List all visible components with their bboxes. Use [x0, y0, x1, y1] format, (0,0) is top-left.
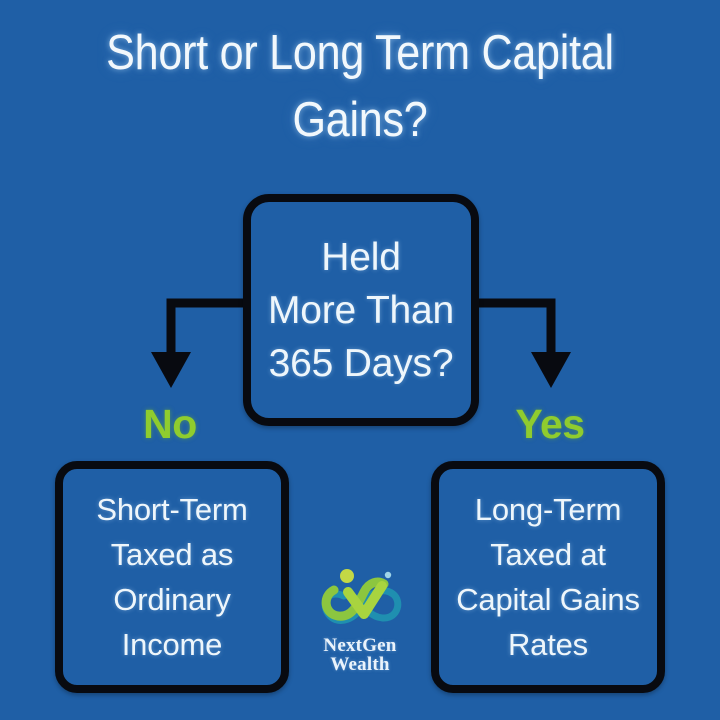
outcome-box-short-term-label: Short-Term Taxed as Ordinary Income — [96, 487, 247, 667]
decision-box-label: Held More Than 365 Days? — [268, 231, 454, 390]
connector-yes-arrow — [475, 303, 571, 388]
outcome-box-short-term: Short-Term Taxed as Ordinary Income — [55, 461, 289, 693]
brand-logo: NextGen Wealth — [298, 562, 422, 684]
capital-gains-infographic: Short or Long Term Capital Gains? Held M… — [0, 0, 720, 720]
branch-label-no: No — [100, 402, 240, 446]
page-title: Short or Long Term Capital Gains? — [43, 20, 677, 154]
connector-no-arrow — [151, 303, 247, 388]
logo-word-primary: NextGen — [298, 636, 422, 655]
branch-label-yes: Yes — [480, 402, 620, 446]
logo-word-secondary: Wealth — [298, 655, 422, 674]
decision-box-holding-period: Held More Than 365 Days? — [243, 194, 479, 426]
outcome-box-long-term-label: Long-Term Taxed at Capital Gains Rates — [456, 487, 640, 667]
nextgen-infinity-people-icon — [314, 562, 406, 634]
outcome-box-long-term: Long-Term Taxed at Capital Gains Rates — [431, 461, 665, 693]
